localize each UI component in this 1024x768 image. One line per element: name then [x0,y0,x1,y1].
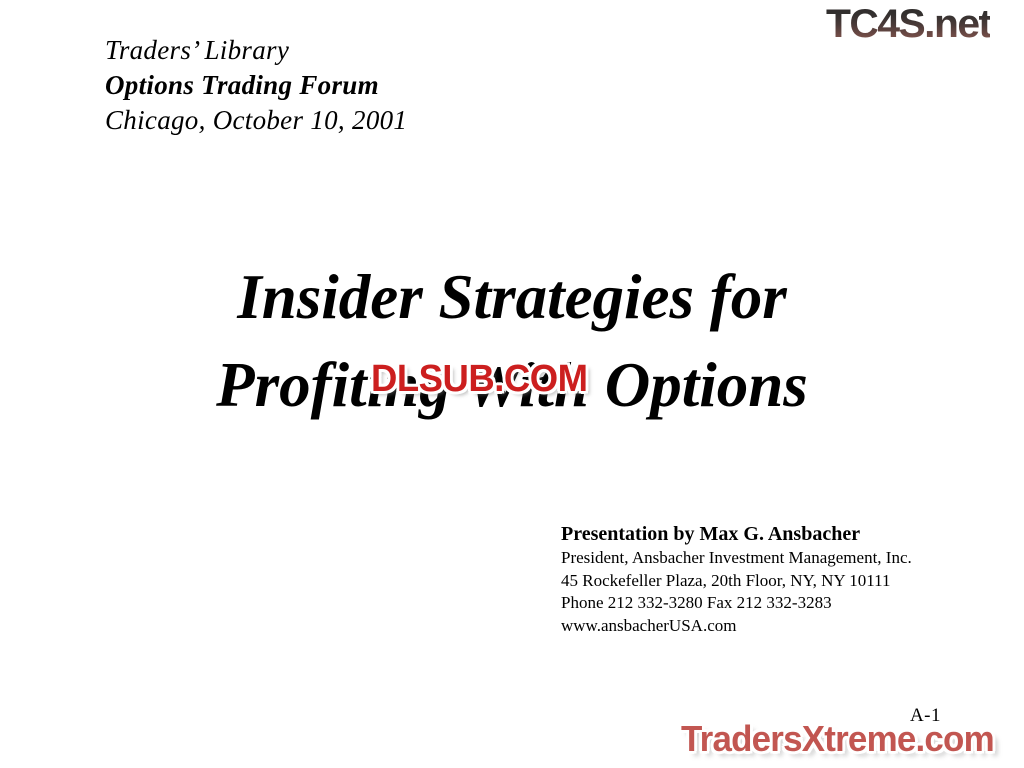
tradersxtreme-watermark-logo: TradersXtreme.com [681,719,994,759]
presenter-phone-fax: Phone 212 332-3280 Fax 212 332-3283 [561,592,981,615]
presenter-role: President, Ansbacher Investment Manageme… [561,547,981,570]
presenter-website: www.ansbacherUSA.com [561,615,981,638]
presenter-info: Presentation by Max G. Ansbacher Preside… [561,521,981,637]
presenter-address: 45 Rockefeller Plaza, 20th Floor, NY, NY… [561,570,981,593]
event-location-date: Chicago, October 10, 2001 [105,103,625,138]
event-organizer: Traders’ Library [105,33,625,68]
dlsub-watermark-logo: DLSUB.COM [371,358,588,400]
title-line-1: Insider Strategies for [0,253,1024,341]
event-header: Traders’ Library Options Trading Forum C… [105,33,625,138]
presentation-slide: Traders’ Library Options Trading Forum C… [0,0,1024,768]
event-name: Options Trading Forum [105,68,625,103]
page-title: Insider Strategies for Profiting With Op… [0,253,1024,429]
tc4s-watermark-logo: TC4S.net [826,2,991,46]
presenter-name: Presentation by Max G. Ansbacher [561,521,981,547]
